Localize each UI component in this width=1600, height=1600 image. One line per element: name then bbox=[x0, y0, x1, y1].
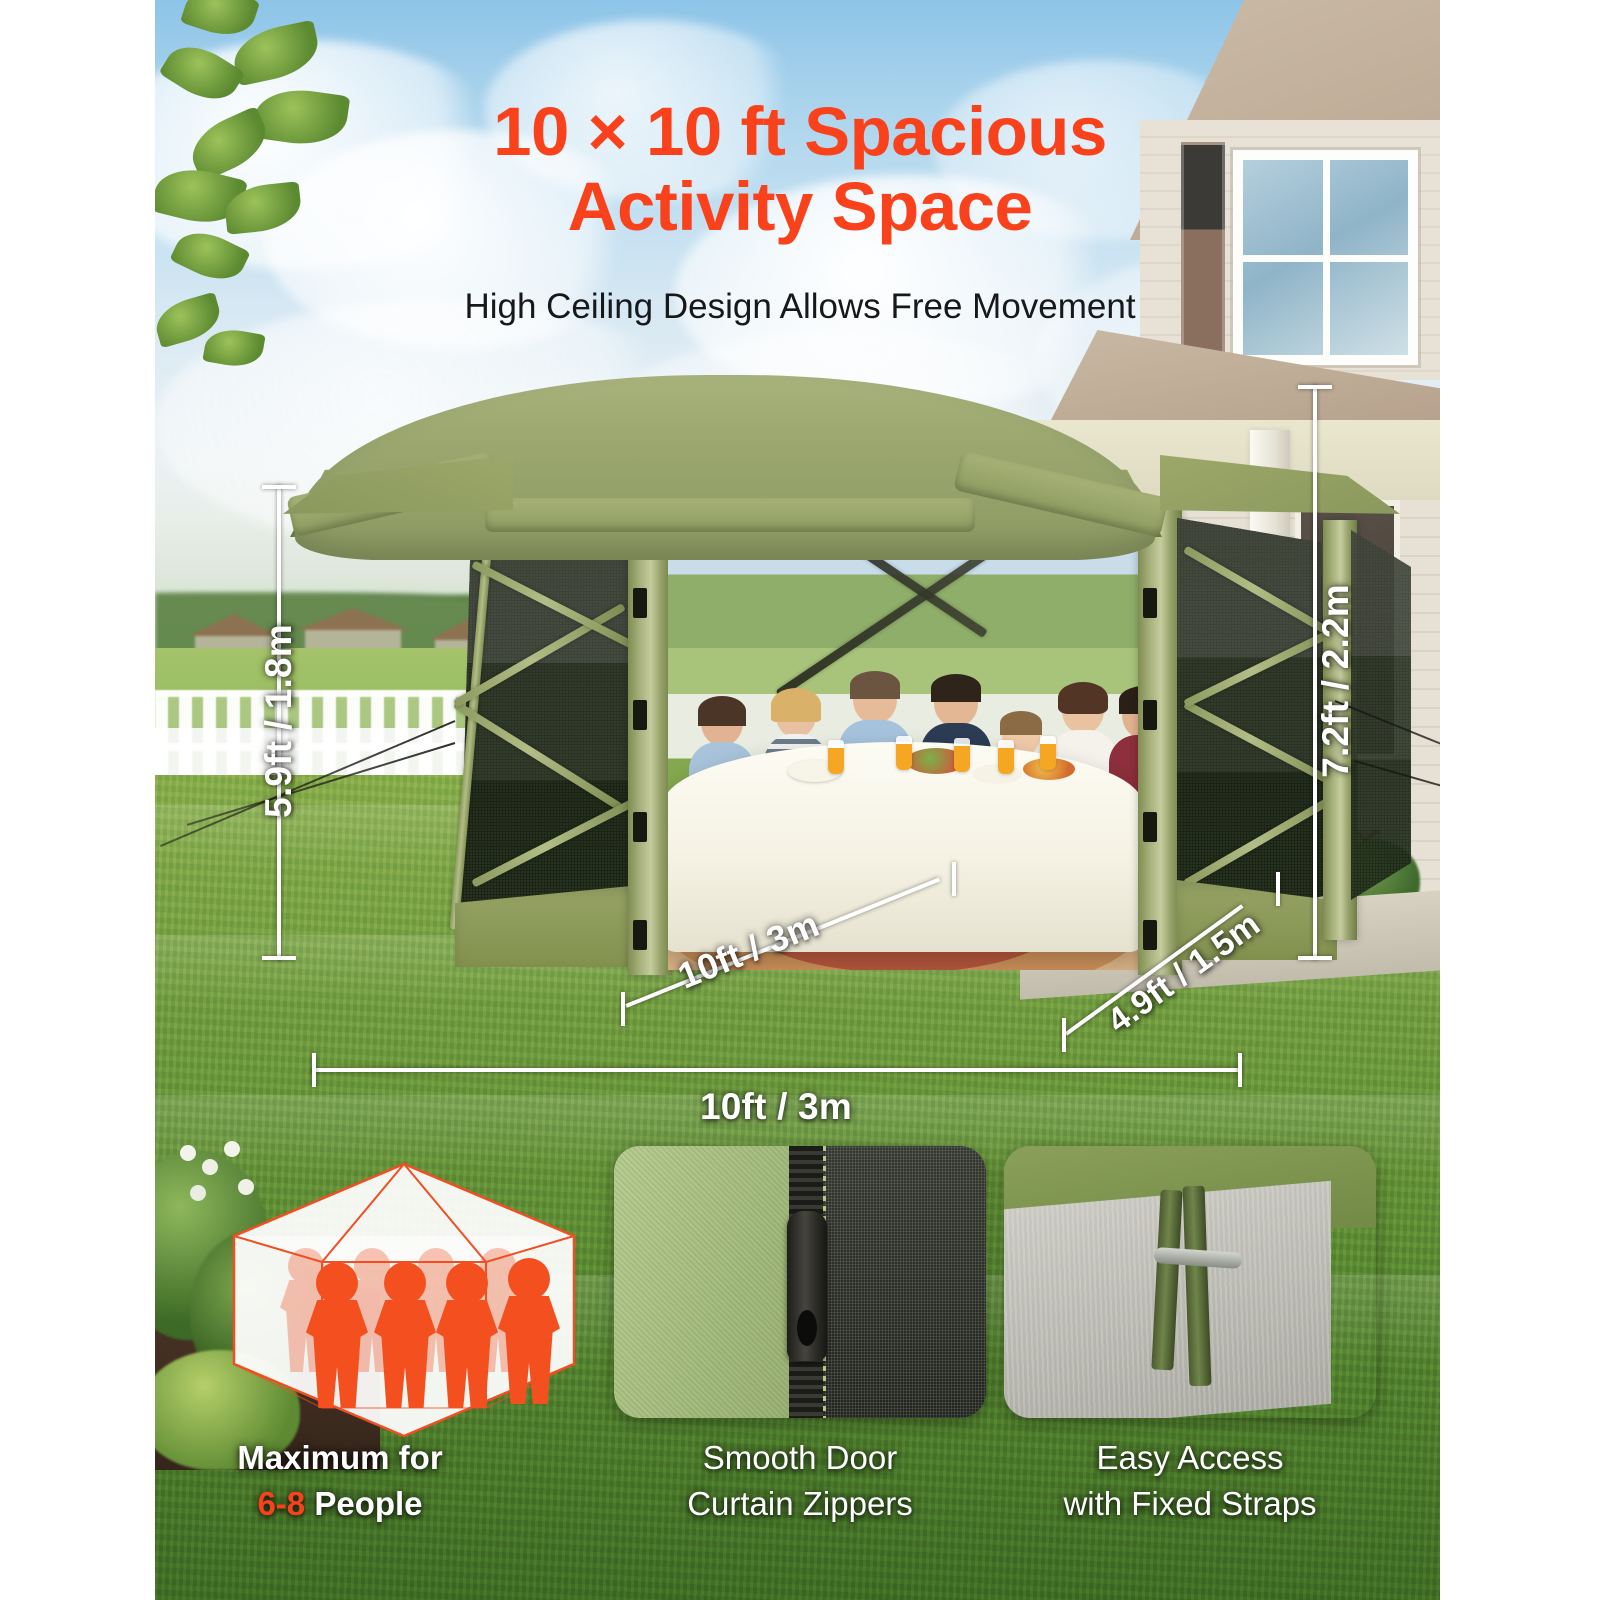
dimension-tick bbox=[262, 956, 296, 960]
dimension-line-base-width bbox=[312, 1068, 1242, 1072]
headline-line2: Activity Space bbox=[0, 170, 1600, 245]
dimension-label-base-width: 10ft / 3m bbox=[700, 1086, 852, 1128]
capacity-count: 6-8 bbox=[257, 1485, 305, 1522]
headline-line1: 10 × 10 ft Spacious bbox=[0, 95, 1600, 170]
canopy-eave bbox=[485, 498, 975, 532]
person-figure bbox=[304, 1262, 370, 1408]
dimension-tick bbox=[1062, 1018, 1066, 1052]
capacity-suffix: People bbox=[305, 1485, 422, 1522]
dimension-tick bbox=[312, 1053, 316, 1087]
dimension-tick bbox=[1238, 1053, 1242, 1087]
zipper-photo bbox=[614, 1146, 986, 1418]
dimension-label-left-height: 5.9ft / 1.8m bbox=[258, 624, 300, 818]
person-figure bbox=[434, 1262, 500, 1408]
hexagon-gazebo-people-icon bbox=[222, 1158, 586, 1444]
mesh-panel-right bbox=[1177, 518, 1327, 928]
person-figure bbox=[372, 1262, 438, 1408]
dimension-tick bbox=[1298, 385, 1332, 389]
feature-zipper-line2: Curtain Zippers bbox=[600, 1482, 1000, 1526]
dimension-tick bbox=[262, 485, 296, 489]
dimension-tick bbox=[621, 992, 625, 1026]
feature-straps-line2: with Fixed Straps bbox=[990, 1482, 1390, 1526]
dimension-label-right-height: 7.2ft / 2.2m bbox=[1315, 584, 1357, 778]
feature-zipper-line1: Smooth Door bbox=[600, 1436, 1000, 1480]
corner-post-center bbox=[1138, 505, 1182, 975]
feature-capacity-line1: Maximum for bbox=[140, 1436, 540, 1480]
dimension-tick bbox=[952, 862, 956, 896]
mesh-panel-far-right bbox=[1351, 530, 1411, 900]
zipper-pull-icon bbox=[787, 1211, 827, 1361]
guy-line bbox=[187, 742, 455, 826]
family-dining-scene bbox=[668, 510, 1138, 970]
dimension-tick bbox=[1298, 956, 1332, 960]
fixed-strap-photo bbox=[1004, 1146, 1376, 1418]
guy-line bbox=[160, 720, 455, 847]
feature-row: Maximum for 6-8 People Smooth Door Curta… bbox=[0, 1140, 1600, 1600]
feature-straps-line1: Easy Access bbox=[990, 1436, 1390, 1480]
dimension-tick bbox=[1276, 872, 1280, 906]
person-figure bbox=[496, 1258, 562, 1404]
corner-post-left bbox=[628, 505, 672, 975]
subheadline: High Ceiling Design Allows Free Movement bbox=[0, 287, 1600, 327]
feature-capacity-line2: 6-8 People bbox=[140, 1482, 540, 1526]
headline: 10 × 10 ft Spacious Activity Space bbox=[0, 95, 1600, 244]
product-infographic: 10 × 10 ft Spacious Activity Space High … bbox=[0, 0, 1600, 1600]
